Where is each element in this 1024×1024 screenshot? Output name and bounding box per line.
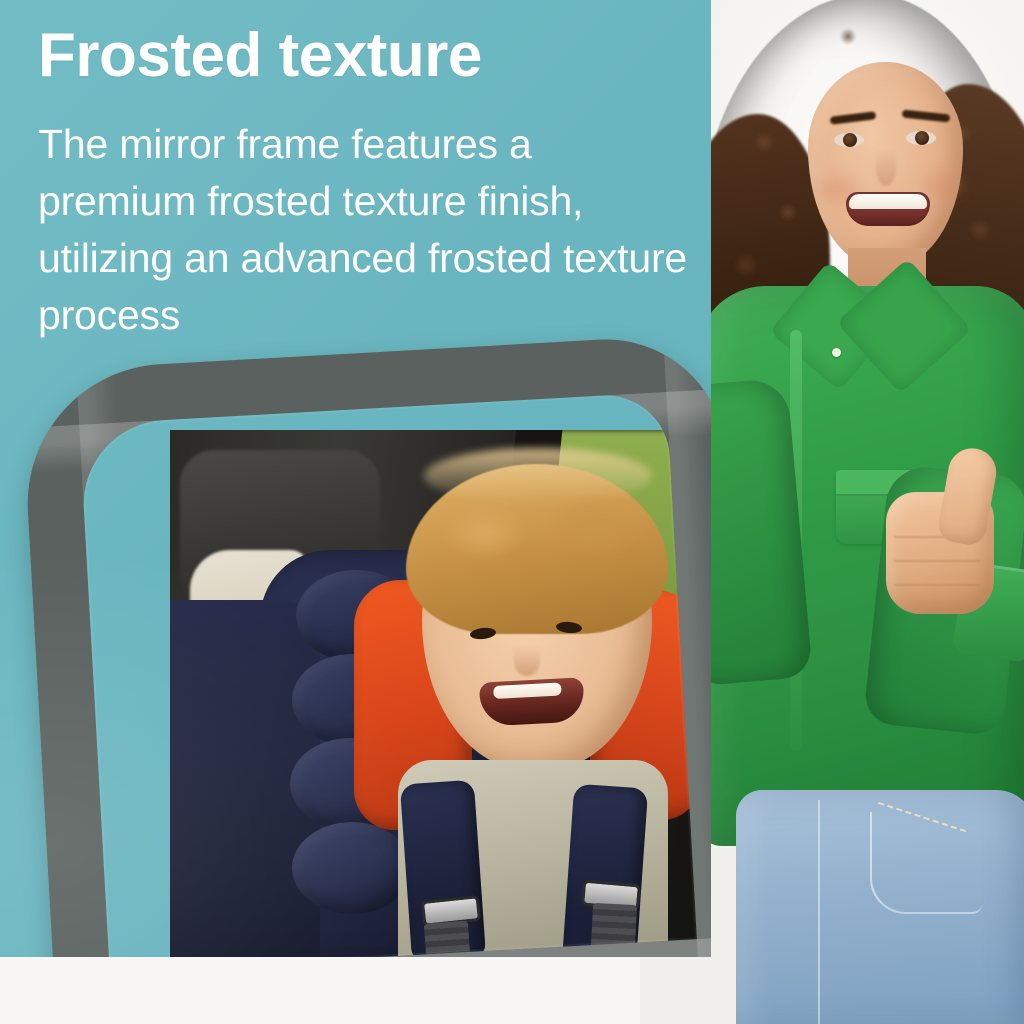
model-eye-left [834, 133, 864, 147]
jeans-pocket [870, 812, 982, 914]
infographic-canvas: Frosted texture The mirror frame feature… [0, 0, 1024, 1024]
model-smile [846, 192, 930, 226]
mirror-frame [20, 333, 711, 957]
model-cheek-right [922, 172, 962, 198]
model-eye-right [906, 131, 936, 145]
page-title: Frosted texture [38, 18, 688, 94]
model-nose [876, 150, 896, 186]
feature-copy-block: Frosted texture The mirror frame feature… [38, 18, 688, 344]
shirt-collar-button [832, 348, 841, 357]
feature-description: The mirror frame features a premium fros… [38, 116, 688, 344]
jeans-seam [818, 800, 820, 1024]
